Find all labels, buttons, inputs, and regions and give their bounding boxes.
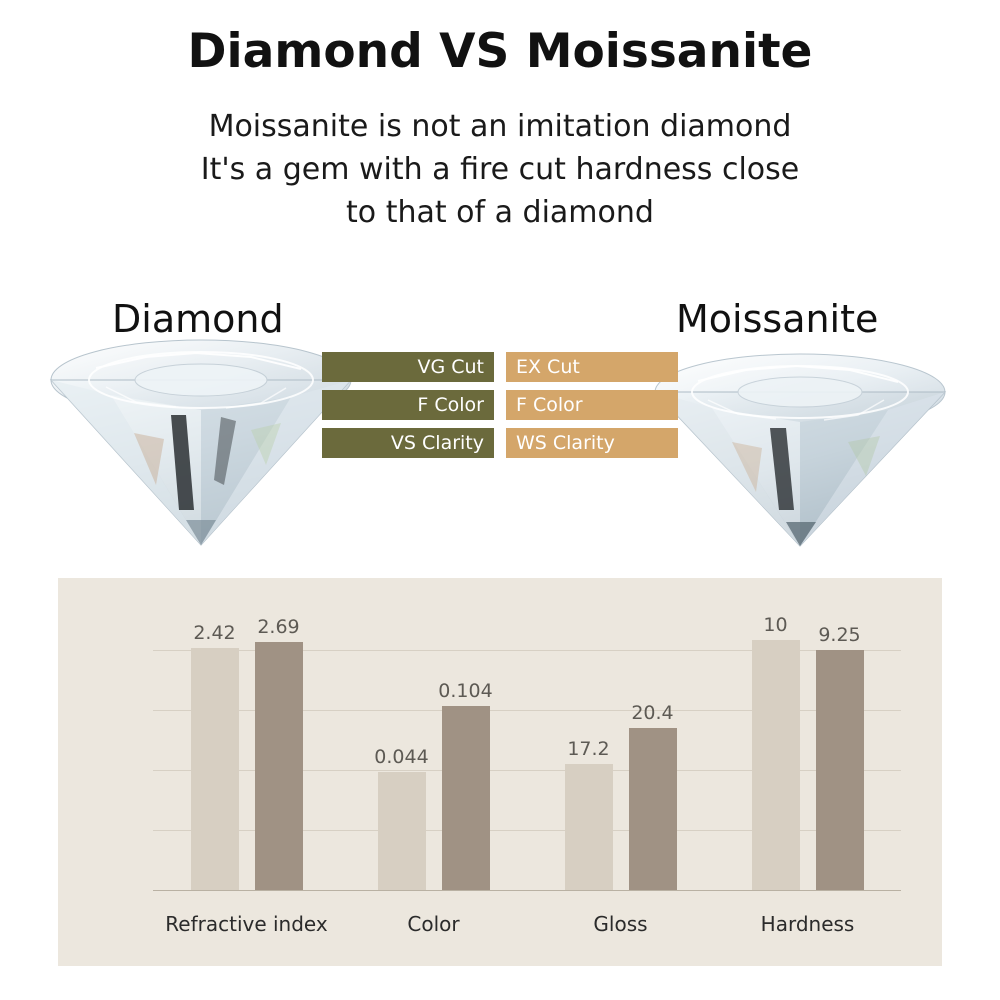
chart-bar [378, 772, 426, 890]
moissanite-color-value: F Color [506, 390, 678, 420]
comparison-bar-chart: 2.422.690.0440.10417.220.4109.25 Refract… [58, 578, 942, 966]
chart-bar-value-label: 20.4 [611, 702, 695, 724]
spec-comparison-bars: VG Cut EX Cut F Color F Color VS Clarity… [322, 352, 678, 458]
diamond-clarity-value: VS Clarity [322, 428, 494, 458]
page-title: Diamond VS Moissanite [0, 24, 1000, 79]
diamond-gem-image [36, 335, 366, 550]
moissanite-cut-value: EX Cut [506, 352, 678, 382]
moissanite-label: Moissanite [676, 297, 878, 341]
chart-bar [629, 728, 677, 890]
chart-bar [565, 764, 613, 890]
infographic-page: Diamond VS Moissanite Moissanite is not … [0, 0, 1000, 1000]
subtitle-line-3: to that of a diamond [0, 191, 1000, 234]
chart-bar-value-label: 0.104 [424, 680, 508, 702]
subtitle-line-2: It's a gem with a fire cut hardness clos… [0, 148, 1000, 191]
chart-bar-value-label: 2.69 [237, 616, 321, 638]
spec-row-clarity: VS Clarity WS Clarity [322, 428, 678, 458]
subtitle-line-1: Moissanite is not an imitation diamond [0, 105, 1000, 148]
chart-bar-value-label: 17.2 [547, 738, 631, 760]
chart-bar-value-label: 9.25 [798, 624, 882, 646]
moissanite-gem-image [640, 350, 960, 550]
chart-bar [816, 650, 864, 890]
chart-plot-area: 2.422.690.0440.10417.220.4109.25 [153, 650, 901, 890]
chart-axis-line [153, 890, 901, 891]
page-subtitle: Moissanite is not an imitation diamond I… [0, 105, 1000, 234]
chart-bar [752, 640, 800, 890]
chart-bar [191, 648, 239, 890]
diamond-cut-value: VG Cut [322, 352, 494, 382]
chart-bar [255, 642, 303, 890]
chart-bar [442, 706, 490, 890]
chart-category-label: Hardness [694, 912, 921, 936]
spec-row-cut: VG Cut EX Cut [322, 352, 678, 382]
diamond-color-value: F Color [322, 390, 494, 420]
chart-bar-value-label: 0.044 [360, 746, 444, 768]
spec-row-color: F Color F Color [322, 390, 678, 420]
moissanite-clarity-value: WS Clarity [506, 428, 678, 458]
